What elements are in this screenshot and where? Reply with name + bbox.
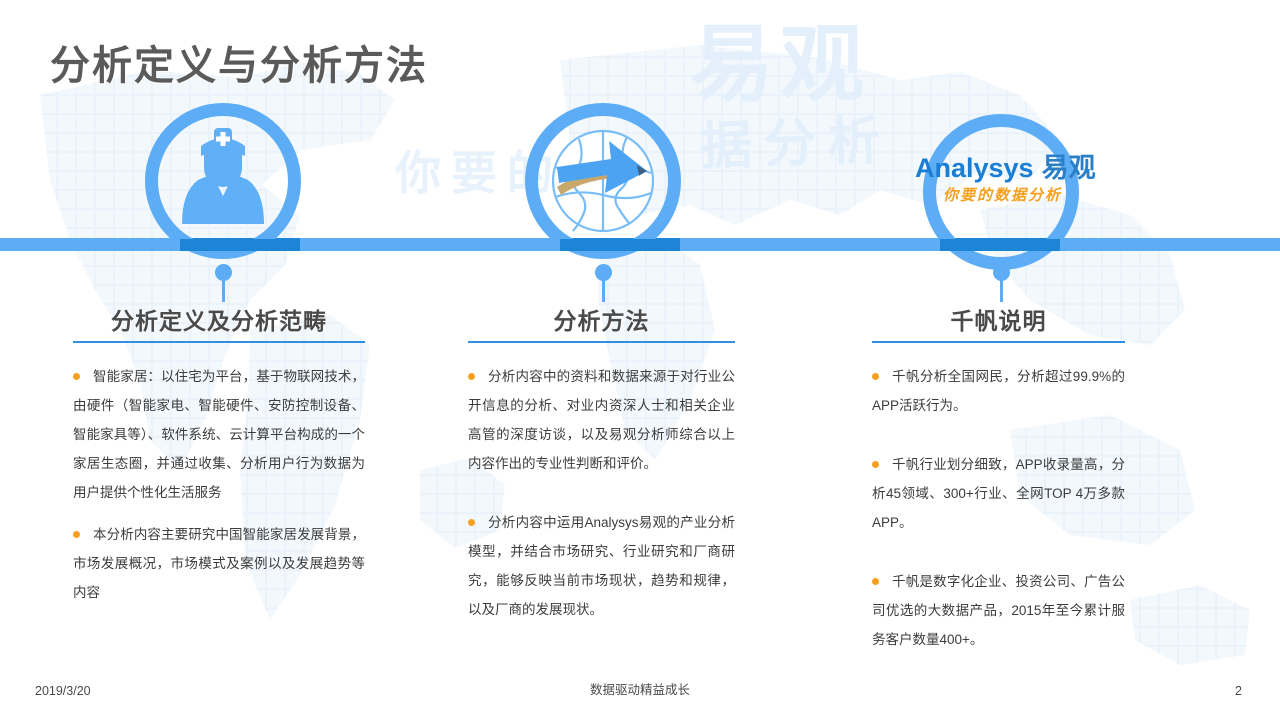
circle-clip-2b bbox=[525, 251, 681, 263]
doctor-icon bbox=[168, 124, 278, 229]
list-item: 分析内容中的资料和数据来源于对行业公开信息的分析、对业内资深人士和相关企业高管的… bbox=[468, 362, 735, 478]
bullet-dot-icon bbox=[872, 373, 879, 380]
list-item: 千帆是数字化企业、投资公司、广告公司优选的大数据产品，2015年至今累计服务客户… bbox=[872, 567, 1125, 654]
list-item-text: 千帆分析全国网民，分析超过99.9%的APP活跃行为。 bbox=[872, 369, 1125, 413]
circle-clip-1b bbox=[145, 251, 301, 263]
analysys-logo-cn: 易观 bbox=[1042, 153, 1096, 183]
watermark-tagline: 据分析 bbox=[699, 115, 893, 174]
analysys-logo-main: Analysys易观 bbox=[915, 155, 1090, 182]
column-1-rule bbox=[73, 341, 365, 343]
column-1-bullets: 智能家居：以住宅为平台，基于物联网技术，由硬件（智能家电、智能硬件、安防控制设备… bbox=[73, 362, 365, 607]
watermark-brand: 易观 bbox=[690, 22, 870, 106]
analysys-logo: Analysys易观 你要的数据分析 bbox=[915, 155, 1090, 203]
circle-ring-2-lower bbox=[525, 251, 681, 259]
bullet-dot-icon bbox=[73, 373, 80, 380]
list-item: 分析内容中运用Analysys易观的产业分析模型，并结合市场研究、行业研究和厂商… bbox=[468, 508, 735, 624]
list-item-text: 分析内容中的资料和数据来源于对行业公开信息的分析、对业内资深人士和相关企业高管的… bbox=[468, 369, 735, 471]
list-item-text: 千帆是数字化企业、投资公司、广告公司优选的大数据产品，2015年至今累计服务客户… bbox=[872, 574, 1125, 647]
footer-page-number: 2 bbox=[1235, 684, 1242, 698]
band-shadow-col3 bbox=[940, 238, 1060, 251]
pin-dot-2 bbox=[595, 264, 612, 281]
bullet-dot-icon bbox=[468, 519, 475, 526]
band-shadow-col2 bbox=[560, 238, 680, 251]
column-3-rule bbox=[872, 341, 1125, 343]
list-item: 智能家居：以住宅为平台，基于物联网技术，由硬件（智能家电、智能硬件、安防控制设备… bbox=[73, 362, 365, 507]
pin-line-2 bbox=[602, 280, 605, 302]
column-analysis-definition: 分析定义及分析范畴 智能家居：以住宅为平台，基于物联网技术，由硬件（智能家电、智… bbox=[73, 302, 365, 620]
band-shadow-col1 bbox=[180, 238, 300, 251]
page-title: 分析定义与分析方法 bbox=[50, 33, 428, 91]
bullet-dot-icon bbox=[872, 461, 879, 468]
column-3-heading: 千帆说明 bbox=[872, 302, 1125, 336]
column-2-rule bbox=[468, 341, 735, 343]
column-qianfan-description: 千帆说明 千帆分析全国网民，分析超过99.9%的APP活跃行为。 千帆行业划分细… bbox=[872, 302, 1125, 667]
column-2-bullets: 分析内容中的资料和数据来源于对行业公开信息的分析、对业内资深人士和相关企业高管的… bbox=[468, 362, 735, 624]
bullet-dot-icon bbox=[468, 373, 475, 380]
pin-line-1 bbox=[222, 280, 225, 302]
pin-dot-1 bbox=[215, 264, 232, 281]
analysys-logo-en: Analysys bbox=[915, 153, 1034, 183]
list-item: 千帆分析全国网民，分析超过99.9%的APP活跃行为。 bbox=[872, 362, 1125, 420]
bullet-dot-icon bbox=[73, 531, 80, 538]
bullet-dot-icon bbox=[872, 578, 879, 585]
globe-arrow-icon bbox=[549, 127, 657, 235]
slide-canvas: 易观 据分析 你要的 分析定义与分析方法 bbox=[0, 0, 1280, 720]
list-item-text: 本分析内容主要研究中国智能家居发展背景，市场发展概况，市场模式及案例以及发展趋势… bbox=[73, 527, 365, 600]
list-item-text: 智能家居：以住宅为平台，基于物联网技术，由硬件（智能家电、智能硬件、安防控制设备… bbox=[73, 369, 365, 500]
list-item: 本分析内容主要研究中国智能家居发展背景，市场发展概况，市场模式及案例以及发展趋势… bbox=[73, 520, 365, 607]
analysys-logo-tagline: 你要的数据分析 bbox=[915, 188, 1090, 203]
pin-dot-3 bbox=[993, 264, 1010, 281]
column-1-heading: 分析定义及分析范畴 bbox=[73, 302, 365, 336]
footer-center-text: 数据驱动精益成长 bbox=[0, 679, 1280, 698]
column-3-bullets: 千帆分析全国网民，分析超过99.9%的APP活跃行为。 千帆行业划分细致，APP… bbox=[872, 362, 1125, 654]
list-item-text: 千帆行业划分细致，APP收录量高，分析45领域、300+行业、全网TOP 4万多… bbox=[872, 457, 1125, 530]
column-analysis-method: 分析方法 分析内容中的资料和数据来源于对行业公开信息的分析、对业内资深人士和相关… bbox=[468, 302, 735, 637]
list-item: 千帆行业划分细致，APP收录量高，分析45领域、300+行业、全网TOP 4万多… bbox=[872, 450, 1125, 537]
list-item-text: 分析内容中运用Analysys易观的产业分析模型，并结合市场研究、行业研究和厂商… bbox=[468, 515, 735, 617]
column-2-heading: 分析方法 bbox=[468, 302, 735, 336]
pin-line-3 bbox=[1000, 280, 1003, 302]
circle-ring-1-lower bbox=[145, 251, 301, 259]
